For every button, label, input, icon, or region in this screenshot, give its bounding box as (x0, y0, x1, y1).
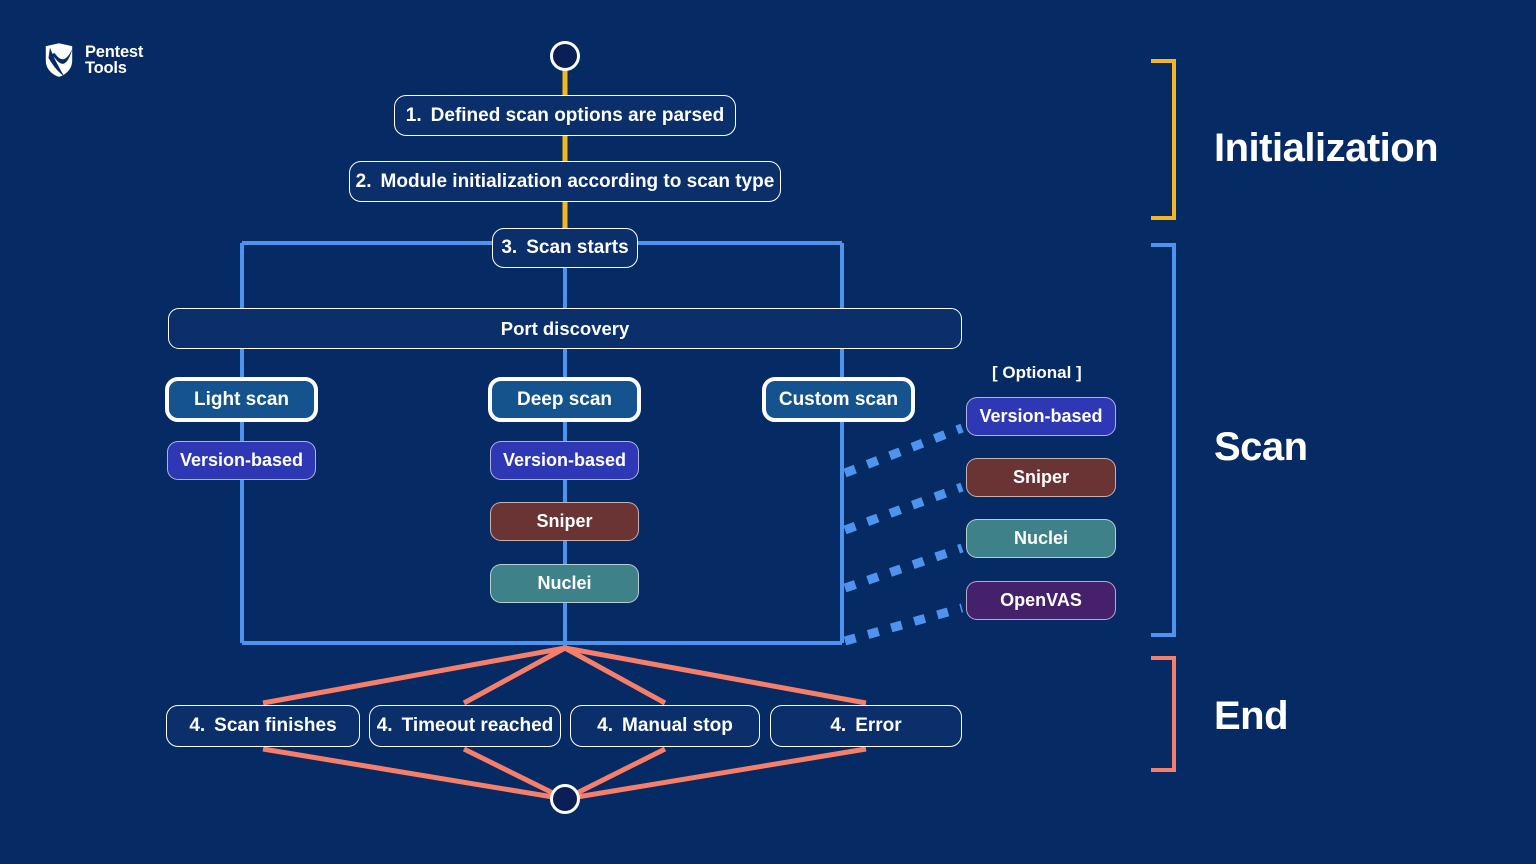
deep-module-nuclei[interactable]: Nuclei (490, 564, 639, 603)
end-outcome-scan-finishes-number: 4. (189, 715, 205, 737)
step-1-number: 1. (406, 105, 422, 127)
deep-module-sniper[interactable]: Sniper (490, 502, 639, 541)
step-1-box[interactable]: 1. Defined scan options are parsed (394, 95, 736, 136)
optional-module-nuclei-label: Nuclei (1014, 528, 1068, 549)
step-2-label: Module initialization according to scan … (381, 171, 775, 193)
light-module-version-based[interactable]: Version-based (167, 441, 316, 480)
end-outcome-error-label: Error (855, 715, 901, 737)
light-module-version-based-label: Version-based (180, 450, 303, 471)
step-3-number: 3. (501, 237, 517, 259)
phase-brackets (1151, 61, 1174, 770)
brand-name: PentestTools (85, 44, 143, 76)
step-3-label: Scan starts (526, 237, 628, 259)
port-discovery-label: Port discovery (501, 318, 630, 340)
phase-label-end: End (1214, 694, 1288, 739)
end-outcome-scan-finishes-label: Scan finishes (214, 715, 337, 737)
end-outcome-error[interactable]: 4. Error (770, 705, 962, 747)
port-discovery-box[interactable]: Port discovery (168, 308, 962, 349)
step-3-box[interactable]: 3. Scan starts (492, 228, 638, 268)
end-outcome-manual-stop-label: Manual stop (622, 715, 733, 737)
optional-module-version-based[interactable]: Version-based (966, 397, 1116, 436)
end-outcome-timeout-reached[interactable]: 4. Timeout reached (369, 705, 561, 747)
deep-module-version-based-label: Version-based (503, 450, 626, 471)
optional-module-openvas[interactable]: OpenVAS (966, 581, 1116, 620)
scan-type-light-box[interactable]: Light scan (165, 377, 318, 422)
optional-dashed-links (845, 428, 962, 641)
scan-type-custom-box[interactable]: Custom scan (762, 377, 915, 422)
optional-module-sniper[interactable]: Sniper (966, 458, 1116, 497)
optional-module-openvas-label: OpenVAS (1000, 590, 1082, 611)
end-node (550, 784, 580, 814)
optional-module-version-based-label: Version-based (979, 406, 1102, 427)
deep-module-nuclei-label: Nuclei (537, 573, 591, 594)
shield-check-icon (44, 42, 74, 78)
end-outcome-timeout-reached-label: Timeout reached (402, 715, 554, 737)
phase-label-initialization: Initialization (1214, 126, 1438, 171)
bracket-scan (1151, 245, 1174, 635)
scan-type-deep-box[interactable]: Deep scan (488, 377, 641, 422)
end-outcome-timeout-reached-number: 4. (377, 715, 393, 737)
step-1-label: Defined scan options are parsed (431, 105, 725, 127)
scan-type-custom-label: Custom scan (779, 389, 898, 411)
end-outcome-manual-stop[interactable]: 4. Manual stop (570, 705, 760, 747)
step-2-box[interactable]: 2. Module initialization according to sc… (349, 161, 781, 202)
end-outcome-scan-finishes[interactable]: 4. Scan finishes (166, 705, 360, 747)
deep-module-version-based[interactable]: Version-based (490, 441, 639, 480)
bracket-initialization (1151, 61, 1174, 218)
end-outcome-manual-stop-number: 4. (597, 715, 613, 737)
step-2-number: 2. (356, 171, 372, 193)
optional-header-label: [ Optional ] (992, 363, 1082, 383)
deep-module-sniper-label: Sniper (536, 511, 592, 532)
diagram-canvas: PentestTools 1. Defined scan options are… (0, 0, 1536, 864)
brand-logo: PentestTools (44, 42, 143, 78)
optional-module-nuclei[interactable]: Nuclei (966, 519, 1116, 558)
scan-type-deep-label: Deep scan (517, 389, 612, 411)
phase-label-scan: Scan (1214, 425, 1308, 470)
bracket-end (1151, 658, 1174, 770)
scan-type-light-label: Light scan (194, 389, 289, 411)
start-node (550, 41, 580, 71)
optional-module-sniper-label: Sniper (1013, 467, 1069, 488)
end-outcome-error-number: 4. (830, 715, 846, 737)
